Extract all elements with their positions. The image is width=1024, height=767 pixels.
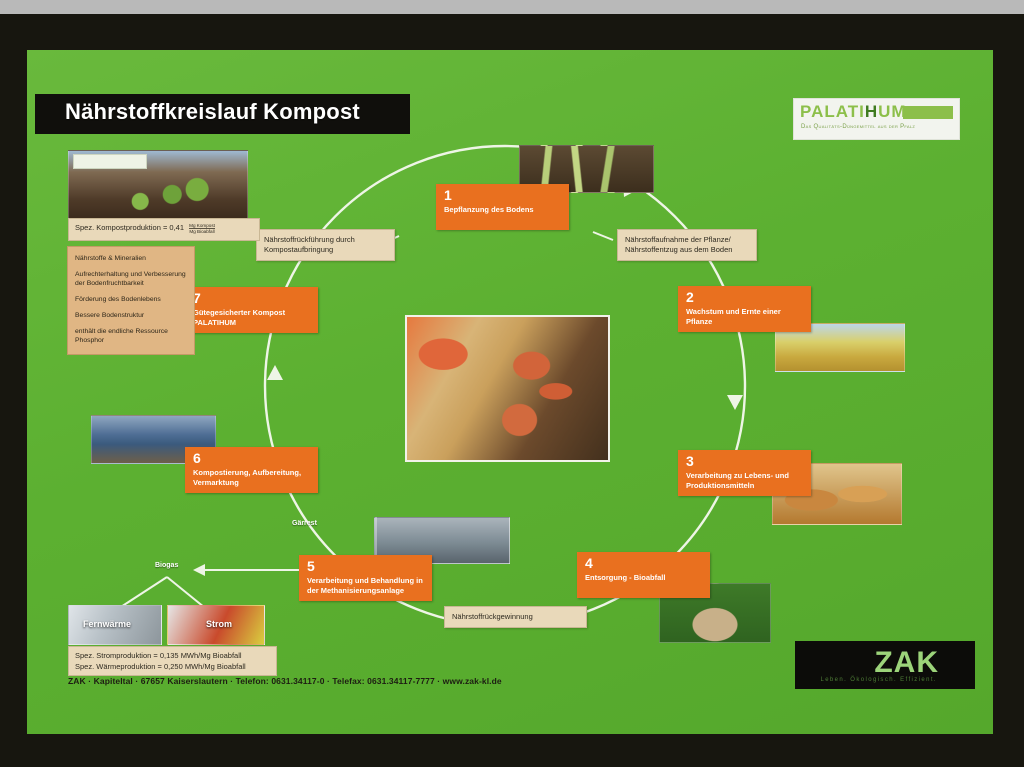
compost-unit-denominator: Mg Bioabfall xyxy=(189,229,214,234)
photo-power-caption: Strom xyxy=(206,619,232,629)
photo-electricity: Strom xyxy=(167,605,265,645)
power-production-value: Spez. Stromproduktion = 0,135 MWh/Mg Bio… xyxy=(75,650,270,661)
heat-production-value: Spez. Wärmeproduktion = 0,250 MWh/Mg Bio… xyxy=(75,661,270,672)
compost-benefits-panel: Nährstoffe & Mineralien Aufrechterhaltun… xyxy=(67,246,195,355)
note-nutrient-uptake: Nährstoffaufnahme der Pflanze/ Nährstoff… xyxy=(617,229,757,261)
step-label-4: Entsorgung - Bioabfall xyxy=(585,573,705,583)
step-box-1[interactable]: 1 Bepflanzung des Bodens xyxy=(436,184,569,230)
poster-board: Nährstoffkreislauf Kompost PALATIHUM Das… xyxy=(27,50,993,734)
step-box-4[interactable]: 4 Entsorgung - Bioabfall xyxy=(577,552,710,598)
step-number-2: 2 xyxy=(686,289,694,305)
step-number-5: 5 xyxy=(307,558,315,574)
caption-energy-production: Spez. Stromproduktion = 0,135 MWh/Mg Bio… xyxy=(68,646,277,676)
compost-production-unit: Mg Kompost Mg Bioabfall xyxy=(189,223,215,234)
zak-tagline: Leben. Ökologisch. Effizient. xyxy=(820,677,937,683)
step-label-2: Wachstum und Ernte einer Pflanze xyxy=(686,307,806,327)
fact-item-2: Aufrechterhaltung und Verbesserung der B… xyxy=(75,270,187,288)
step-box-3[interactable]: 3 Verarbeitung zu Lebens- und Produktion… xyxy=(678,450,811,496)
photo-planting xyxy=(68,150,248,222)
compost-production-value: Spez. Kompostproduktion = 0,41 xyxy=(75,223,184,232)
poster-frame: Nährstoffkreislauf Kompost PALATIHUM Das… xyxy=(0,0,1024,767)
note-nutrient-return: Nährstoffrückführung durch Kompostaufbri… xyxy=(256,229,395,261)
palatihum-green-bar xyxy=(903,106,953,119)
fact-item-3: Förderung des Bodenlebens xyxy=(75,295,187,304)
step-label-3: Verarbeitung zu Lebens- und Produktionsm… xyxy=(686,471,806,491)
flow-label-biogas: Biogas xyxy=(155,562,178,569)
photo-district-heating: Fernwärme xyxy=(68,605,162,645)
palatihum-logo: PALATIHUM Das Qualitäts-Düngemittel aus … xyxy=(793,98,960,140)
caption-compost-production: Spez. Kompostproduktion = 0,41 Mg Kompos… xyxy=(68,218,260,241)
footer-contact: ZAK · Kapiteltal · 67657 Kaiserslautern … xyxy=(68,676,502,686)
step-label-5: Verarbeitung und Behandlung in der Metha… xyxy=(307,576,427,596)
step-number-3: 3 xyxy=(686,453,694,469)
palatihum-wordmark: PALATIHUM xyxy=(800,102,907,122)
page-title: Nährstoffkreislauf Kompost xyxy=(65,99,360,125)
flow-label-digestate: Gärrest xyxy=(292,520,317,527)
fact-item-1: Nährstoffe & Mineralien xyxy=(75,254,187,263)
palatihum-part1: PALATI xyxy=(800,102,865,121)
step-box-7[interactable]: 7 Gütegesicherter Kompost PALATIHUM xyxy=(185,287,318,333)
fact-item-4: Bessere Bodenstruktur xyxy=(75,311,187,320)
step-label-7: Gütegesicherter Kompost PALATIHUM xyxy=(193,308,313,328)
zak-wordmark: ZAK xyxy=(874,646,939,680)
step-number-6: 6 xyxy=(193,450,201,466)
photo-heat-caption: Fernwärme xyxy=(83,619,131,629)
wall-strip xyxy=(0,0,1024,14)
zak-logo: ZAK Leben. Ökologisch. Effizient. xyxy=(795,641,975,689)
palatihum-tagline: Das Qualitäts-Düngemittel aus der Pfalz xyxy=(801,124,915,130)
step-box-6[interactable]: 6 Kompostierung, Aufbereitung, Vermarktu… xyxy=(185,447,318,493)
step-label-6: Kompostierung, Aufbereitung, Vermarktung xyxy=(193,468,313,488)
note-nutrient-recovery: Nährstoffrückgewinnung xyxy=(444,606,587,628)
fact-item-5: enthält die endliche Ressource Phosphor xyxy=(75,327,187,345)
step-label-1: Bepflanzung des Bodens xyxy=(444,205,564,215)
step-number-1: 1 xyxy=(444,187,452,203)
photo-biowaste-center xyxy=(405,315,610,462)
photo-planting-logo-badge xyxy=(73,154,147,169)
step-box-5[interactable]: 5 Verarbeitung und Behandlung in der Met… xyxy=(299,555,432,601)
palatihum-h-letter: H xyxy=(865,102,878,121)
step-number-4: 4 xyxy=(585,555,593,571)
step-box-2[interactable]: 2 Wachstum und Ernte einer Pflanze xyxy=(678,286,811,332)
